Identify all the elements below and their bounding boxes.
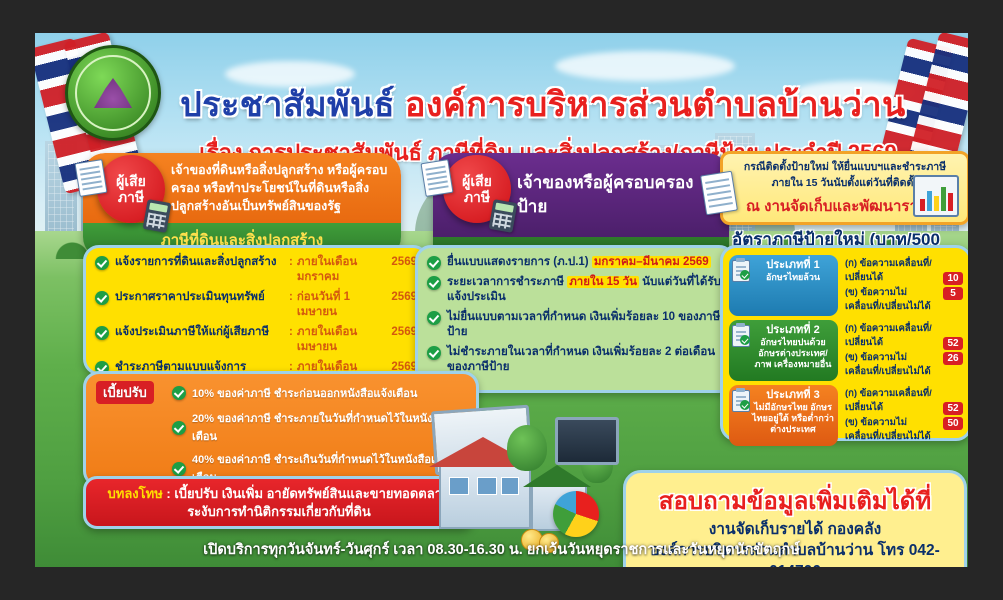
schedule-row-separator: : [289, 325, 293, 340]
sign-rate-values: 105 [943, 255, 963, 316]
sign-rate-items: (ก) ข้อความเคลื่อนที่/เปลี่ยนได้(ข) ข้อค… [838, 320, 943, 381]
punishment-line-2: ระงับการทำนิติกรรมเกี่ยวกับที่ดิน [94, 503, 464, 521]
sign-rule-row: ระยะเวลาการชำระภาษี ภายใน 15 วัน นับแต่ว… [427, 275, 723, 305]
penalty-row: เบี้ยปรับ10% ของค่าภาษี ชำระก่อนออกหนังส… [96, 381, 466, 404]
sign-rule-text: ระยะเวลาการชำระภาษี ภายใน 15 วัน นับแต่ว… [447, 275, 723, 305]
sign-rate-row: ประเภทที่ 3ไม่มีอักษรไทย อักษรไทยอยู่ใต้… [729, 385, 963, 446]
sign-rule-text: ยื่นแบบแสดงรายการ (ภ.ป.1) มกราคม–มีนาคม … [447, 255, 723, 270]
schedule-row-year: 2569 [391, 255, 417, 270]
punishment-text-1: : เบี้ยปรับ เงินเพิ่ม อายัดทรัพย์สินและข… [166, 486, 450, 501]
sign-rate-value: 5 [943, 287, 963, 300]
poster-canvas: ประชาสัมพันธ์ องค์การบริหารส่วนตำบลบ้านว… [35, 33, 968, 567]
schedule-row-value: ภายในเดือน มกราคม [297, 255, 392, 285]
schedule-row-year: 2569 [391, 325, 417, 340]
check-icon [95, 326, 109, 340]
punishment-line-1: บทลงโทษ : เบี้ยปรับ เงินเพิ่ม อายัดทรัพย… [94, 485, 464, 503]
land-tax-schedule-box: แจ้งรายการที่ดินและสิ่งปลูกสร้าง:ภายในเด… [83, 245, 429, 375]
house-illustration [439, 463, 531, 529]
sign-rule-row: ไม่ยื่นแบบตามเวลาที่กำหนด เงินเพิ่มร้อยล… [427, 310, 723, 340]
notice-line-1: กรณีติดตั้งป้ายใหม่ ให้ยื่นแบบฯและชำระภา… [729, 160, 961, 176]
sign-rate-type-badge: ประเภทที่ 1อักษรไทยล้วน [729, 255, 838, 316]
penalty-row: 20% ของค่าภาษี ชำระภายในวันที่กำหนดไว้ใน… [96, 409, 466, 445]
sign-rule-pre: ไม่ยื่นแบบตามเวลาที่กำหนด เงินเพิ่มร้อยล… [447, 311, 720, 338]
schedule-row-value: ภายในเดือน เมษายน [297, 325, 392, 355]
check-icon [740, 270, 750, 280]
document-icon [421, 159, 454, 197]
fine-tag: เบี้ยปรับ [96, 381, 154, 404]
sign-rate-values: 5226 [943, 320, 963, 381]
title-part-organization: องค์การบริหารส่วนตำบลบ้านว่าน [405, 86, 906, 124]
check-icon [172, 421, 186, 435]
document-icon [700, 171, 738, 216]
schedule-row-label: ประกาศราคาประเมินทุนทรัพย์ [115, 290, 285, 305]
schedule-row-label: แจ้งประเมินภาษีให้แก่ผู้เสียภาษี [115, 325, 285, 340]
cloud-shape [555, 51, 735, 81]
check-icon [172, 386, 186, 400]
page-title: ประชาสัมพันธ์ องค์การบริหารส่วนตำบลบ้านว… [163, 88, 923, 124]
house-window [449, 477, 469, 495]
schedule-row: แจ้งรายการที่ดินและสิ่งปลูกสร้าง:ภายในเด… [95, 255, 417, 285]
penalty-tag-slot: เบี้ยปรับ [96, 381, 172, 404]
schedule-row-year: 2569 [391, 290, 417, 305]
punishment-strip: บทลงโทษ : เบี้ยปรับ เงินเพิ่ม อายัดทรัพย… [83, 476, 475, 529]
sign-rule-text: ไม่ยื่นแบบตามเวลาที่กำหนด เงินเพิ่มร้อยล… [447, 310, 723, 340]
schedule-row-separator: : [289, 290, 293, 305]
sign-rate-item: (ก) ข้อความเคลื่อนที่/เปลี่ยนได้ [845, 322, 940, 351]
calculator-icon [489, 199, 518, 233]
check-icon [427, 346, 441, 360]
sign-rate-type-desc: อักษรไทยปนด้วย อักษรต่างประเทศ/ภาพ เครื่… [752, 337, 834, 369]
sign-taxpayer-badge-line1: ผู้เสีย [443, 173, 511, 189]
bar-chart-icon [913, 175, 959, 217]
organization-logo [65, 45, 161, 141]
sign-rate-type-badge: ประเภทที่ 2อักษรไทยปนด้วย อักษรต่างประเท… [729, 320, 838, 381]
sign-rate-value: 52 [943, 402, 963, 415]
sign-rate-value: 52 [943, 337, 963, 350]
sign-rule-pre: ระยะเวลาการชำระภาษี [447, 276, 567, 288]
sign-rate-type-title: ประเภทที่ 1 [752, 259, 834, 272]
sign-rate-item: (ก) ข้อความเคลื่อนที่/เปลี่ยนได้ [845, 257, 940, 286]
check-icon [172, 462, 186, 476]
contact-heading: สอบถามข้อมูลเพิ่มเติมได้ที่ [636, 481, 954, 520]
sign-rate-item: (ก) ข้อความเคลื่อนที่/เปลี่ยนได้ [845, 387, 940, 416]
sign-rate-values: 5250 [943, 385, 963, 446]
sign-rate-item: (ข) ข้อความไม่เคลื่อนที่/เปลี่ยนไม่ได้ [845, 286, 940, 315]
sign-rule-highlight: มกราคม–มีนาคม 2569 [592, 256, 711, 268]
schedule-row-label: แจ้งรายการที่ดินและสิ่งปลูกสร้าง [115, 255, 285, 270]
check-icon [740, 400, 750, 410]
sign-tax-rules-list: ยื่นแบบแสดงรายการ (ภ.ป.1) มกราคม–มีนาคม … [427, 255, 723, 375]
check-icon [95, 256, 109, 270]
penalty-text: 20% ของค่าภาษี ชำระภายในวันที่กำหนดไว้ใน… [192, 409, 466, 445]
sign-rate-table: ประเภทที่ 1อักษรไทยล้วน(ก) ข้อความเคลื่อ… [729, 255, 963, 446]
sign-rule-row: ยื่นแบบแสดงรายการ (ภ.ป.1) มกราคม–มีนาคม … [427, 255, 723, 270]
sign-rate-items: (ก) ข้อความเคลื่อนที่/เปลี่ยนได้(ข) ข้อค… [838, 385, 943, 446]
schedule-row-value: ก่อนวันที่ 1 เมษายน [297, 290, 392, 320]
sign-rate-row: ประเภทที่ 1อักษรไทยล้วน(ก) ข้อความเคลื่อ… [729, 255, 963, 316]
sign-rate-type-badge: ประเภทที่ 3ไม่มีอักษรไทย อักษรไทยอยู่ใต้… [729, 385, 838, 446]
schedule-row: แจ้งประเมินภาษีให้แก่ผู้เสียภาษี:ภายในเด… [95, 325, 417, 355]
check-icon [427, 256, 441, 270]
service-hours-text: เปิดบริการทุกวันจันทร์-วันศุกร์ เวลา 08.… [35, 538, 968, 561]
title-part-announcement: ประชาสัมพันธ์ [180, 86, 395, 124]
calculator-screen [495, 203, 514, 213]
cloud-shape [225, 61, 355, 87]
sign-rule-pre: ไม่ชำระภายในเวลาที่กำหนด เงินเพิ่มร้อยละ… [447, 346, 715, 373]
pie-chart-illustration [553, 491, 599, 537]
sign-rate-value: 10 [943, 272, 963, 285]
penalty-rates-box: เบี้ยปรับ10% ของค่าภาษี ชำระก่อนออกหนังส… [83, 371, 479, 487]
sign-rate-value: 26 [943, 352, 963, 365]
sign-rate-type-desc: อักษรไทยล้วน [752, 272, 834, 283]
sign-rate-row: ประเภทที่ 2อักษรไทยปนด้วย อักษรต่างประเท… [729, 320, 963, 381]
schedule-row-separator: : [289, 255, 293, 270]
tree-illustration [507, 425, 547, 471]
penalty-text: 10% ของค่าภาษี ชำระก่อนออกหนังสือแจ้งเตื… [192, 384, 417, 402]
sign-rate-type-desc: ไม่มีอักษรไทย อักษรไทยอยู่ใต้ หรือต่ำกว่… [752, 402, 834, 434]
house-window [501, 477, 519, 495]
calculator-screen [149, 203, 168, 213]
punishment-tag: บทลงโทษ [108, 486, 163, 501]
check-icon [740, 335, 750, 345]
sign-rule-row: ไม่ชำระภายในเวลาที่กำหนด เงินเพิ่มร้อยละ… [427, 345, 723, 375]
land-taxpayer-badge-line1: ผู้เสีย [97, 173, 165, 189]
calculator-icon [143, 199, 172, 233]
sign-rate-type-title: ประเภทที่ 2 [752, 324, 834, 337]
monitor-illustration [555, 417, 619, 465]
sign-rule-highlight: ภายใน 15 วัน [567, 276, 639, 288]
calculator-keys [492, 212, 512, 229]
house-window [477, 477, 497, 495]
sign-rate-item: (ข) ข้อความไม่เคลื่อนที่/เปลี่ยนไม่ได้ [845, 351, 940, 380]
document-icon [75, 159, 108, 197]
calculator-keys [146, 212, 166, 229]
sign-rate-table-box: ประเภทที่ 1อักษรไทยล้วน(ก) ข้อความเคลื่อ… [720, 245, 968, 441]
sign-rate-item: (ข) ข้อความไม่เคลื่อนที่/เปลี่ยนไม่ได้ [845, 416, 940, 445]
sign-rule-pre: ยื่นแบบแสดงรายการ (ภ.ป.1) [447, 256, 592, 268]
sign-rate-items: (ก) ข้อความเคลื่อนที่/เปลี่ยนได้(ข) ข้อค… [838, 255, 943, 316]
check-icon [95, 291, 109, 305]
schedule-row: ประกาศราคาประเมินทุนทรัพย์:ก่อนวันที่ 1 … [95, 290, 417, 320]
sign-rate-type-title: ประเภทที่ 3 [752, 389, 834, 402]
sign-rule-text: ไม่ชำระภายในเวลาที่กำหนด เงินเพิ่มร้อยละ… [447, 345, 723, 375]
check-icon [427, 276, 441, 290]
sign-rate-value: 50 [943, 417, 963, 430]
check-icon [427, 311, 441, 325]
